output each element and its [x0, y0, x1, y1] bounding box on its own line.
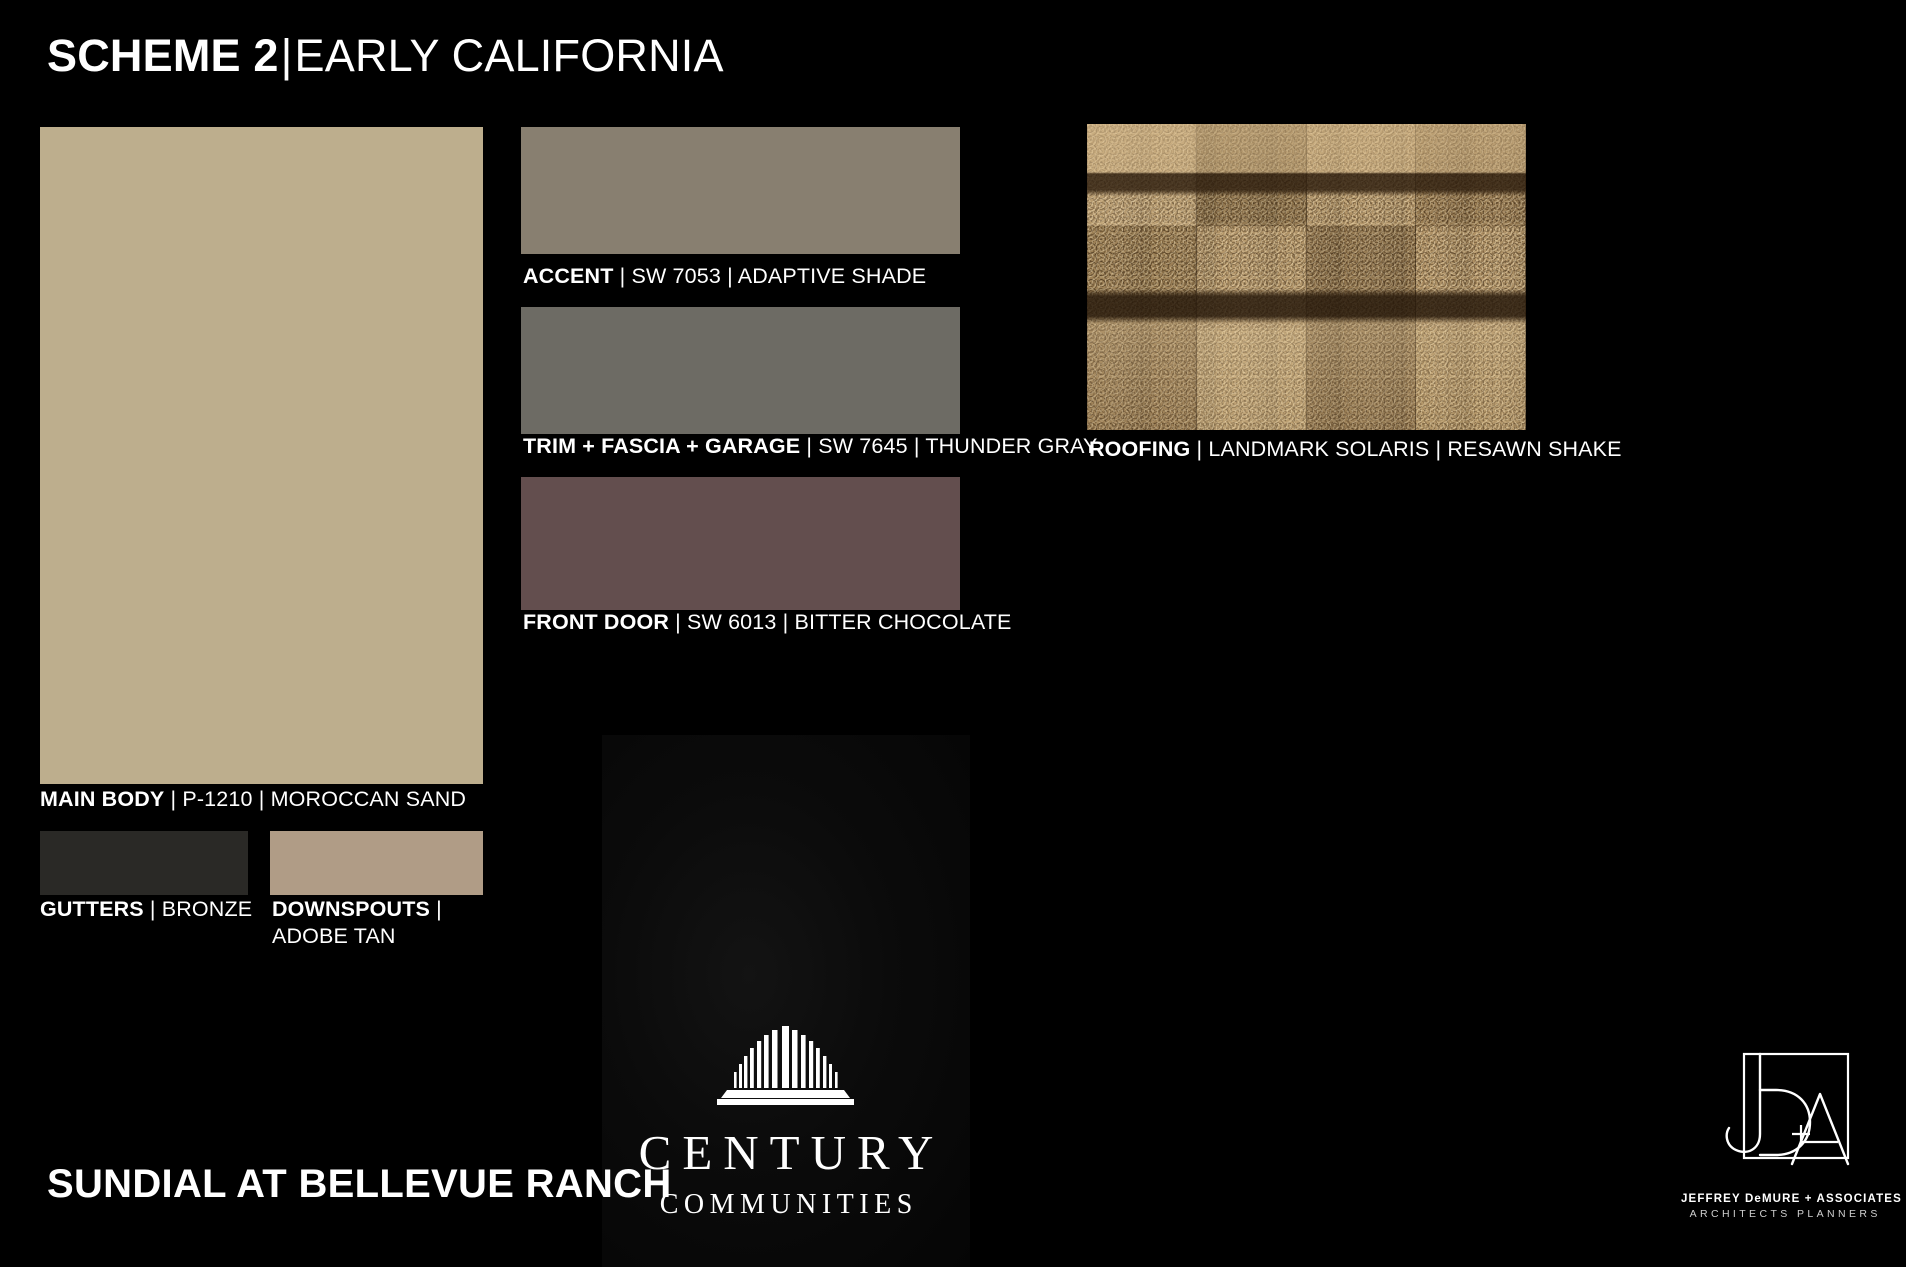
- swatch-label-roofing: ROOFING | LANDMARK SOLARIS | RESAWN SHAK…: [1089, 436, 1789, 463]
- swatch-label-gutters: GUTTERS | BRONZE: [40, 896, 270, 923]
- swatch-label-gutters-detail: | BRONZE: [150, 897, 252, 921]
- swatch-label-accent: ACCENT | SW 7053 | ADAPTIVE SHADE: [523, 263, 1123, 290]
- swatch-label-main-body: MAIN BODY | P-1210 | MOROCCAN SAND: [40, 786, 640, 813]
- swatch-label-downspouts: DOWNSPOUTS | ADOBE TAN: [272, 896, 477, 950]
- swatch-accent[interactable]: [521, 127, 960, 254]
- architect-logo-name: JEFFREY DeMURE + ASSOCIATES: [1681, 1193, 1886, 1205]
- swatch-label-front-door: FRONT DOOR | SW 6013 | BITTER CHOCOLATE: [523, 609, 1223, 636]
- swatch-label-roofing-detail: | LANDMARK SOLARIS | RESAWN SHAKE: [1197, 437, 1622, 461]
- swatch-chip-downspouts: [270, 831, 483, 895]
- swatch-label-gutters-name: GUTTERS: [40, 897, 144, 921]
- swatch-label-downspouts-name: DOWNSPOUTS: [272, 897, 430, 921]
- swatch-main-body[interactable]: [40, 127, 483, 784]
- swatch-chip-accent: [521, 127, 960, 254]
- page-title-separator: |: [279, 30, 295, 81]
- swatch-chip-trim: [521, 307, 960, 434]
- roofing-shingle-texture: [1087, 124, 1526, 430]
- swatch-label-accent-name: ACCENT: [523, 264, 613, 288]
- swatch-label-front-door-detail: | SW 6013 | BITTER CHOCOLATE: [675, 610, 1011, 634]
- architect-logo-discipline: ARCHITECTS PLANNERS: [1681, 1208, 1886, 1220]
- swatch-label-front-door-name: FRONT DOOR: [523, 610, 669, 634]
- swatch-label-trim-name: TRIM + FASCIA + GARAGE: [523, 434, 800, 458]
- swatch-label-main-body-name: MAIN BODY: [40, 787, 164, 811]
- swatch-label-roofing-name: ROOFING: [1089, 437, 1190, 461]
- century-building-icon: [681, 1024, 891, 1110]
- page-title: SCHEME 2|EARLY CALIFORNIA: [47, 33, 724, 78]
- swatch-front-door[interactable]: [521, 477, 960, 610]
- jda-monogram-icon: [1698, 1038, 1870, 1188]
- page-title-theme: EARLY CALIFORNIA: [295, 30, 724, 81]
- swatch-downspouts[interactable]: [270, 831, 483, 895]
- swatch-gutters[interactable]: [40, 831, 248, 895]
- project-title: SUNDIAL AT BELLEVUE RANCH: [47, 1164, 672, 1204]
- swatch-label-accent-detail: | SW 7053 | ADAPTIVE SHADE: [620, 264, 927, 288]
- swatch-chip-front-door: [521, 477, 960, 610]
- swatch-trim-fascia-garage[interactable]: [521, 307, 960, 434]
- swatch-chip-gutters: [40, 831, 248, 895]
- swatch-label-trim-detail: | SW 7645 | THUNDER GRAY: [806, 434, 1097, 458]
- swatch-chip-main-body: [40, 127, 483, 784]
- architect-logo: JEFFREY DeMURE + ASSOCIATES ARCHITECTS P…: [1681, 1038, 1886, 1228]
- roofing-shingle-tabs: [1087, 124, 1526, 430]
- swatch-label-main-body-detail: | P-1210 | MOROCCAN SAND: [171, 787, 467, 811]
- page-title-scheme: SCHEME 2: [47, 30, 279, 81]
- swatch-roofing[interactable]: [1087, 124, 1526, 430]
